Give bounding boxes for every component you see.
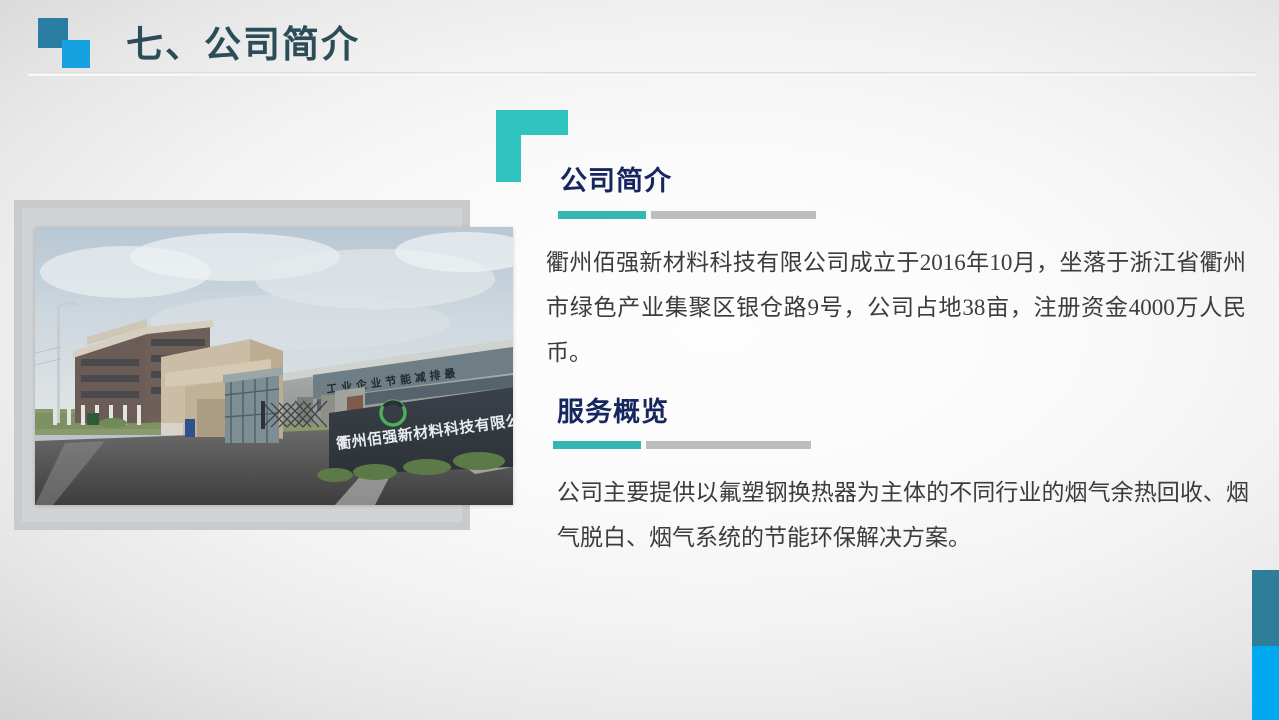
divider-segment-teal xyxy=(558,211,646,219)
divider-segment-gray xyxy=(651,211,816,219)
header-square-bright xyxy=(62,40,90,68)
teal-bracket-decoration xyxy=(496,110,568,182)
header-divider-rule xyxy=(28,72,1256,76)
company-facility-photo: 工 业 企 业 节 能 减 排 最 衢州佰强新材料科技有限公司 xyxy=(35,227,513,505)
corner-accent-bottom xyxy=(1252,646,1279,720)
section-divider-2 xyxy=(553,441,811,449)
section-divider-1 xyxy=(558,211,816,219)
section-heading-service-overview: 服务概览 xyxy=(557,390,669,429)
slide-canvas: 七、公司简介 xyxy=(0,0,1279,720)
section-body-service-overview: 公司主要提供以氟塑钢换热器为主体的不同行业的烟气余热回收、烟气脱白、烟气系统的节… xyxy=(557,470,1249,560)
page-title: 七、公司简介 xyxy=(126,14,360,68)
bracket-arm-vertical xyxy=(496,110,521,182)
divider-segment-gray xyxy=(646,441,811,449)
corner-accent-decoration xyxy=(1252,570,1279,720)
section-body-company-intro: 衢州佰强新材料科技有限公司成立于2016年10月，坐落于浙江省衢州市绿色产业集聚… xyxy=(546,240,1246,375)
corner-accent-top xyxy=(1252,570,1279,646)
section-heading-company-intro: 公司简介 xyxy=(560,159,672,198)
divider-segment-teal xyxy=(553,441,641,449)
